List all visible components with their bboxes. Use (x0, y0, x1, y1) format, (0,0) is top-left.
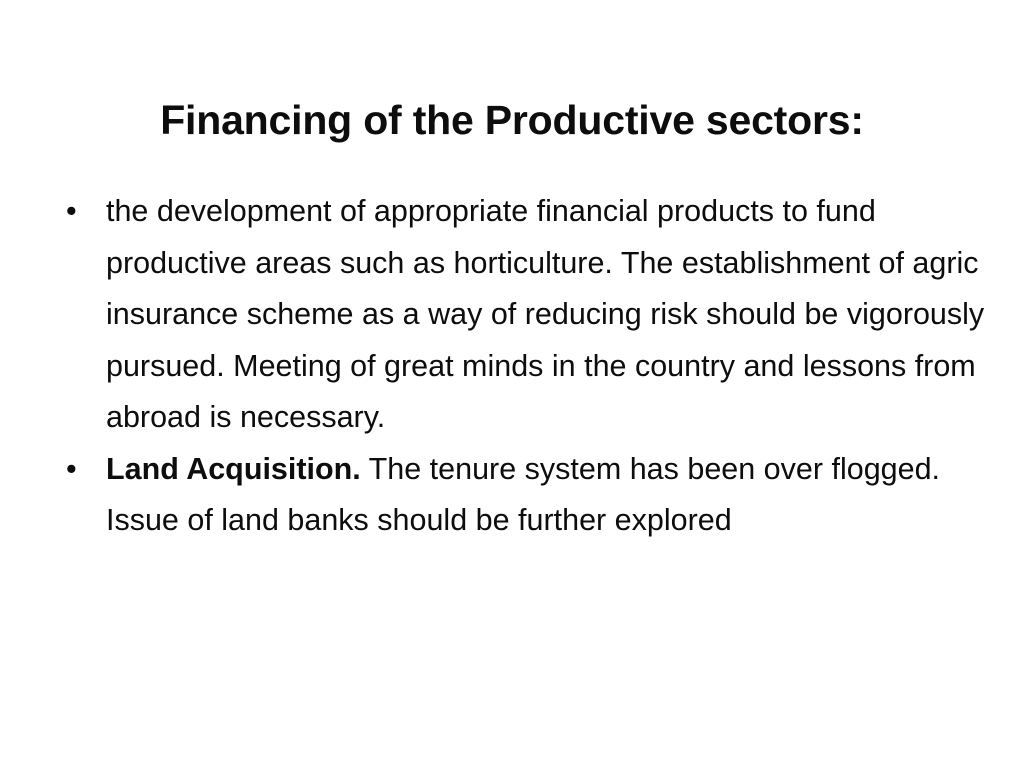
bullet-point-icon: • (66, 444, 90, 496)
bullet-list: • the development of appropriate financi… (58, 186, 988, 547)
list-item: • the development of appropriate financi… (58, 186, 988, 444)
list-item: • Land Acquisition. The tenure system ha… (58, 444, 988, 547)
bullet-point-icon: • (66, 186, 90, 238)
slide-canvas: Financing of the Productive sectors: • t… (0, 0, 1024, 768)
slide-body: • the development of appropriate financi… (58, 186, 988, 547)
bullet-body-text: Land Acquisition. The tenure system has … (106, 444, 988, 547)
page-title: Financing of the Productive sectors: (0, 95, 1024, 145)
bullet-body-text: the development of appropriate financial… (106, 186, 988, 444)
bullet-lead-emphasis: Land Acquisition. (106, 452, 361, 486)
